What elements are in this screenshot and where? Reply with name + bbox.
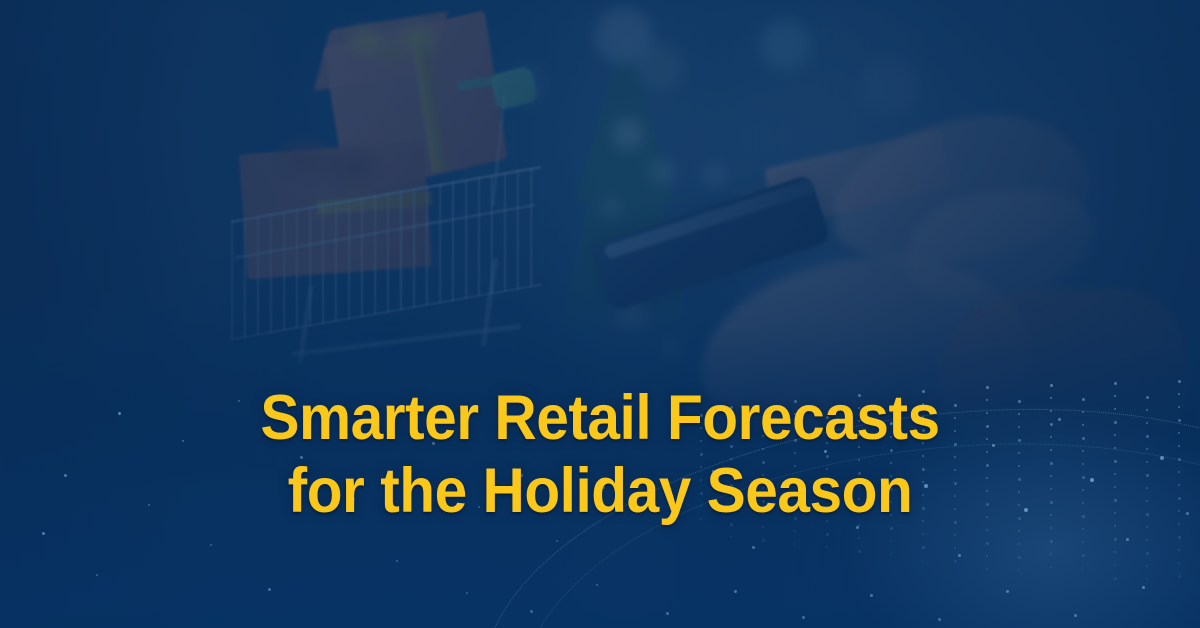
page-title: Smarter Retail Forecasts for the Holiday… [0, 382, 1200, 528]
particle-dot [268, 588, 271, 591]
particle-dot [396, 560, 398, 562]
hero-banner: Smarter Retail Forecasts for the Holiday… [0, 0, 1200, 628]
particle-dot [96, 574, 98, 576]
headline-line-1: Smarter Retail Forecasts [42, 382, 1158, 455]
particle-dot [42, 532, 45, 535]
particle-dot [556, 540, 558, 542]
particle-dot [210, 544, 212, 546]
headline-line-2: for the Holiday Season [42, 455, 1158, 528]
particle-dot [466, 592, 468, 594]
